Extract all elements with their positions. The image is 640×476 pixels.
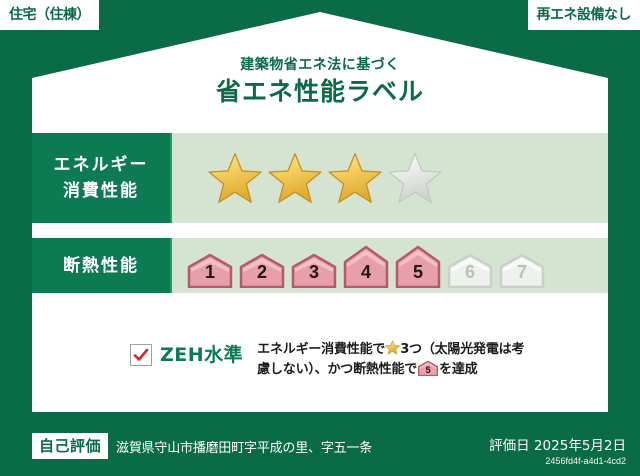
footer-left: 自己評価 滋賀県守山市播磨田町字平成の里、字五一条 — [32, 433, 372, 459]
insulation-badge-7: 7 — [498, 252, 546, 288]
insulation-badge-1: 1 — [186, 252, 234, 288]
zeh-desc-part4: を達成 — [439, 362, 477, 377]
energy-label-line1: エネルギー — [54, 152, 149, 178]
star-icon-inline — [385, 340, 400, 355]
insulation-badge-inline: 5 — [417, 360, 439, 376]
insulation-grade-scale: 1 2 3 — [186, 244, 546, 288]
evaluation-date: 評価日 2025年5月2日 — [489, 437, 626, 455]
zeh-desc-part2: 3つ（太陽光発電 — [400, 342, 498, 357]
insulation-badge-3: 3 — [290, 252, 338, 288]
insulation-performance-value: 1 2 3 — [170, 238, 608, 293]
label-footer: 自己評価 滋賀県守山市播磨田町字平成の里、字五一条 評価日 2025年5月2日 … — [0, 412, 640, 476]
insulation-badge-5: 5 — [394, 244, 442, 288]
energy-performance-label: 住宅（住棟） 再エネ設備なし 建築物省エネ法に基づく 省エネ性能ラベル エネルギ… — [0, 0, 640, 476]
property-address: 滋賀県守山市播磨田町字平成の里、字五一条 — [116, 437, 372, 456]
energy-label-line2: 消費性能 — [63, 178, 139, 204]
page-title: 省エネ性能ラベル — [0, 76, 640, 108]
footer-right: 評価日 2025年5月2日 2456fd4f-a4d1-4cd2 — [489, 437, 626, 468]
insulation-performance-row: 断熱性能 1 2 — [32, 238, 608, 293]
check-icon — [133, 347, 149, 363]
zeh-description: エネルギー消費性能で3つ（太陽光発電は考慮しない）、かつ断熱性能で5を達成 — [257, 340, 525, 380]
zeh-standard-title: ZEH水準 — [160, 340, 243, 370]
insulation-badge-number: 4 — [342, 262, 390, 283]
insulation-badge-number: 2 — [238, 262, 286, 283]
energy-performance-label: エネルギー 消費性能 — [32, 133, 170, 223]
insulation-badge-number: 1 — [186, 262, 234, 283]
title-block: 建築物省エネ法に基づく 省エネ性能ラベル — [0, 56, 640, 108]
energy-performance-value — [170, 133, 608, 223]
renewable-energy-tag: 再エネ設備なし — [528, 0, 640, 30]
energy-performance-row: エネルギー 消費性能 — [32, 133, 608, 223]
star-rating — [208, 152, 442, 204]
insulation-badge-6: 6 — [446, 252, 494, 288]
title-subtitle: 建築物省エネ法に基づく — [0, 56, 640, 74]
insulation-badge-4: 4 — [342, 244, 390, 288]
insulation-badge-number: 7 — [498, 262, 546, 283]
insulation-badge-inline-number: 5 — [417, 364, 439, 376]
document-id: 2456fd4f-a4d1-4cd2 — [489, 455, 626, 468]
self-assessment-badge: 自己評価 — [32, 433, 108, 459]
star-icon-filled — [208, 152, 262, 204]
star-icon-filled — [268, 152, 322, 204]
insulation-badge-number: 5 — [394, 262, 442, 283]
zeh-checkbox[interactable] — [130, 344, 152, 366]
insulation-badge-number: 3 — [290, 262, 338, 283]
star-icon-filled — [328, 152, 382, 204]
insulation-badge-2: 2 — [238, 252, 286, 288]
zeh-desc-part1: エネルギー消費性能で — [257, 342, 385, 357]
zeh-standard-block: ZEH水準 エネルギー消費性能で3つ（太陽光発電は考慮しない）、かつ断熱性能で5… — [130, 340, 525, 380]
star-icon-empty — [388, 152, 442, 204]
insulation-badge-number: 6 — [446, 262, 494, 283]
building-type-tag: 住宅（住棟） — [0, 0, 99, 30]
insulation-performance-label: 断熱性能 — [32, 238, 170, 293]
